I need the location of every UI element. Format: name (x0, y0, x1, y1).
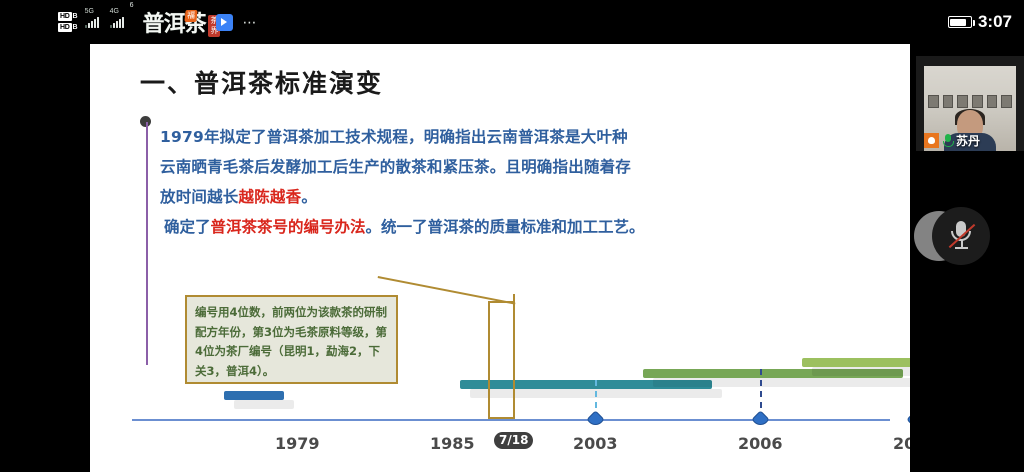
timeline-bar-3[interactable] (802, 358, 910, 367)
hd-label-2: HD (58, 23, 72, 32)
participant-video-tile[interactable]: 苏丹 (916, 56, 1024, 151)
page-indicator: 7/18 (494, 432, 533, 449)
timeline-bar-0[interactable] (224, 391, 284, 400)
body-line-4: 确定了普洱茶茶号的编号办法。统一了普洱茶的质量标准和加工工艺。 (160, 212, 800, 242)
slide-body-text: 1979年拟定了普洱茶加工技术规程，明确指出云南普洱茶是大叶种云南晒青毛茶后发酵… (160, 122, 800, 242)
callout-box: 编号用4位数，前两位为该款茶的研制配方年份，第3位为毛茶原料等级，第4位为茶厂编… (185, 295, 398, 384)
battery-icon (948, 16, 972, 28)
axis-year-2003: 2003 (573, 434, 618, 453)
bar-shadow-2 (653, 378, 910, 387)
app-logo: 普洱茶 福 茶界 (142, 9, 205, 35)
hd-indicator-stack: HD B HD B (58, 12, 78, 32)
timeline-anchor-line (146, 122, 148, 365)
mic-muted-button[interactable] (932, 207, 990, 265)
bar-shadow-3 (812, 367, 910, 376)
callout-leader-top (488, 301, 514, 303)
mic-on-icon (941, 133, 954, 148)
timeline-axis (132, 419, 890, 421)
participant-name: 苏丹 (956, 132, 980, 149)
slide-canvas[interactable]: 一、普洱茶标准演变 1979年拟定了普洱茶加工技术规程，明确指出云南普洱茶是大叶… (90, 44, 910, 472)
signal-bars-4g-icon: 4G (110, 17, 124, 28)
callout-leader-left (488, 302, 490, 419)
network-type-4g: 4G (110, 8, 119, 15)
hd-indicator-1: HD B (58, 12, 78, 21)
mic-stem (961, 240, 963, 247)
hd-indicator-2: HD B (58, 23, 78, 32)
axis-year-2008: 2008 (893, 434, 910, 453)
background-wall-icon (924, 95, 1016, 109)
status-bar: HD B HD B 5G 4G 6 普洱茶 福 茶界 (0, 0, 1024, 44)
play-icon (216, 14, 233, 31)
axis-year-1979: 1979 (275, 434, 320, 453)
signal-bars-5g-icon: 5G (85, 17, 99, 28)
status-left-icons: HD B HD B 5G 4G 6 普洱茶 福 茶界 (58, 2, 298, 42)
body-line-2: 云南晒青毛茶后发酵加工后生产的散茶和紧压茶。且明确指出随着存 (160, 152, 800, 182)
mic-base (955, 247, 968, 249)
phone-screen: HD B HD B 5G 4G 6 普洱茶 福 茶界 (0, 0, 1024, 472)
bar-shadow-0 (234, 400, 294, 409)
sim-count-label: 6 (130, 2, 134, 9)
callout-leader-right (513, 294, 515, 419)
network-type-5g: 5G (85, 8, 94, 15)
meeting-right-panel: 苏丹 (910, 44, 1024, 472)
status-right-cluster: 3:07 (948, 0, 1012, 44)
milestone-marker-2006[interactable] (751, 410, 769, 428)
participant-name-bar: 苏丹 (924, 132, 980, 149)
slide-title: 一、普洱茶标准演变 (140, 64, 383, 100)
hd-sub-2: B (73, 24, 78, 31)
overflow-icon: ⋯ (243, 14, 258, 31)
milestone-marker-2003[interactable] (586, 410, 604, 428)
hd-sub-1: B (73, 13, 78, 20)
axis-year-1985: 1985 (430, 434, 475, 453)
callout-text: 编号用4位数，前两位为该款茶的研制配方年份，第3位为毛茶原料等级，第4位为茶厂编… (187, 297, 396, 381)
clock-label: 3:07 (978, 12, 1012, 32)
body-line-1: 1979年拟定了普洱茶加工技术规程，明确指出云南普洱茶是大叶种 (160, 122, 800, 152)
app-badge-1: 福 (185, 10, 198, 22)
axis-year-2006: 2006 (738, 434, 783, 453)
host-badge-icon (924, 133, 939, 148)
hd-label-1: HD (58, 12, 72, 21)
body-line-3: 放时间越长越陈越香。 (160, 182, 800, 212)
callout-leader-bottom (488, 417, 514, 419)
